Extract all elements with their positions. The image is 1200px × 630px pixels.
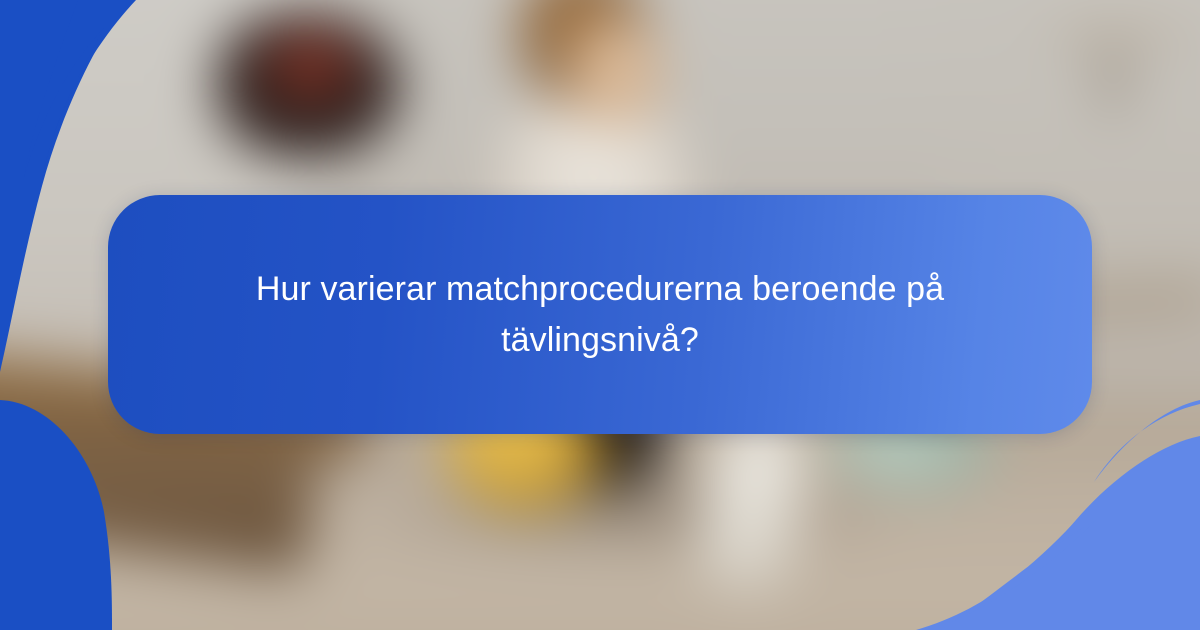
question-card: Hur varierar matchprocedurerna beroende …	[108, 195, 1092, 434]
background-red-accent-shape	[266, 34, 356, 98]
background-child-face-shape	[568, 18, 661, 124]
background-shelf-leg-shape	[1104, 34, 1123, 108]
og-image-canvas: Hur varierar matchprocedurerna beroende …	[0, 0, 1200, 630]
question-title: Hur varierar matchprocedurerna beroende …	[205, 264, 995, 365]
